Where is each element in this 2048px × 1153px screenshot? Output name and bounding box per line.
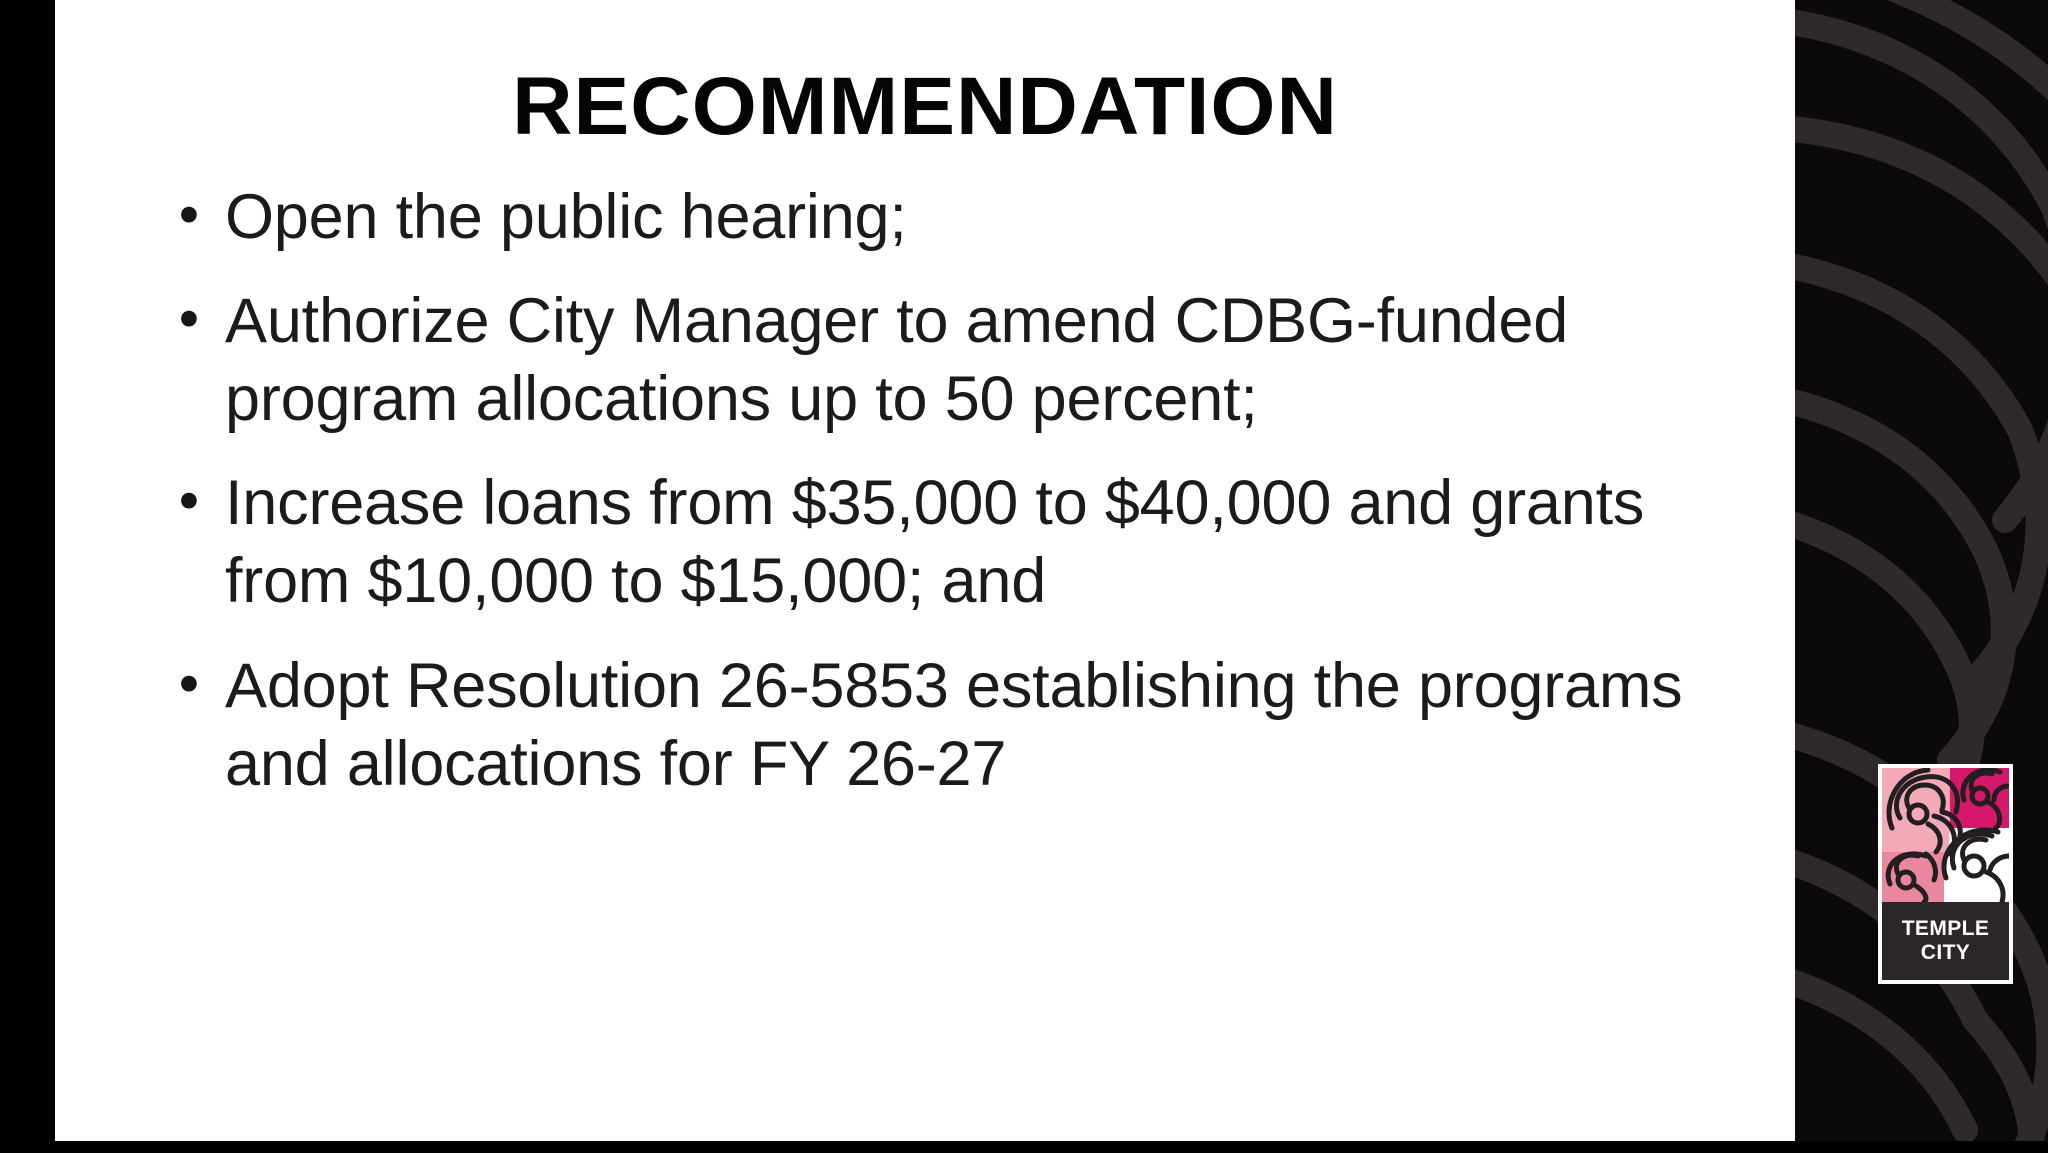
- letterbox-bottom-bar: [0, 1141, 2048, 1153]
- bullet-text-3: Increase loans from $35,000 to $40,000 a…: [225, 464, 1773, 620]
- bullet-text-4: Adopt Resolution 26-5853 establishing th…: [225, 647, 1773, 803]
- slide-title: RECOMMENDATION: [55, 61, 1812, 153]
- logo-name-line-1: TEMPLE: [1902, 917, 1990, 941]
- rose-emblem-icon: [1882, 768, 2009, 902]
- logo-nameplate: TEMPLE CITY: [1882, 902, 2009, 980]
- bullet-dot-icon: •: [173, 178, 225, 244]
- bullet-item-2: • Authorize City Manager to amend CDBG-f…: [173, 282, 1773, 438]
- bullet-text-2: Authorize City Manager to amend CDBG-fun…: [225, 282, 1773, 438]
- bullet-list: • Open the public hearing; • Authorize C…: [173, 178, 1773, 829]
- bullet-item-1: • Open the public hearing;: [173, 178, 1773, 256]
- bullet-text-1: Open the public hearing;: [225, 178, 1773, 256]
- bullet-item-4: • Adopt Resolution 26-5853 establishing …: [173, 647, 1773, 803]
- letterbox-left-bar: [0, 0, 55, 1153]
- slide-canvas: RECOMMENDATION • Open the public hearing…: [55, 0, 2048, 1141]
- bullet-dot-icon: •: [173, 464, 225, 530]
- logo-name-line-2: CITY: [1921, 941, 1970, 965]
- temple-city-logo: TEMPLE CITY: [1878, 764, 2013, 984]
- bullet-dot-icon: •: [173, 647, 225, 713]
- slide-stage: RECOMMENDATION • Open the public hearing…: [0, 0, 2048, 1153]
- bullet-dot-icon: •: [173, 282, 225, 348]
- bullet-item-3: • Increase loans from $35,000 to $40,000…: [173, 464, 1773, 620]
